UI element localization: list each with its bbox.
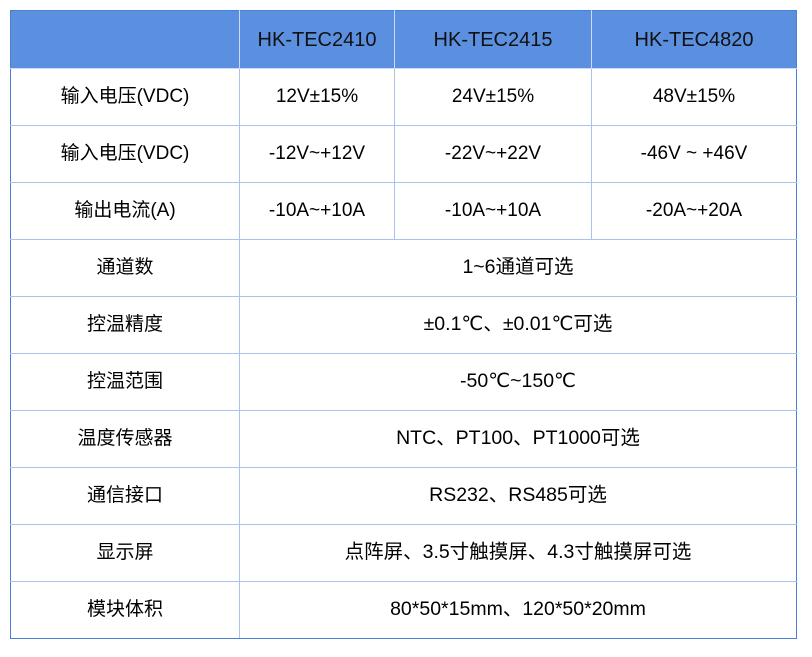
cell-value: 24V±15% (395, 69, 592, 126)
table-row: 通信接口 RS232、RS485可选 (11, 468, 797, 525)
specification-table-container: HK-TEC2410 HK-TEC2415 HK-TEC4820 输入电压(VD… (10, 10, 796, 640)
table-row: 温度传感器 NTC、PT100、PT1000可选 (11, 411, 797, 468)
table-row: 模块体积 80*50*15mm、120*50*20mm (11, 582, 797, 639)
cell-value: -46V ~ +46V (592, 126, 797, 183)
column-header-label (11, 11, 240, 69)
cell-value: -10A~+10A (240, 183, 395, 240)
row-label: 温度传感器 (11, 411, 240, 468)
cell-value: 12V±15% (240, 69, 395, 126)
specification-table: HK-TEC2410 HK-TEC2415 HK-TEC4820 输入电压(VD… (10, 10, 797, 639)
row-label: 输出电流(A) (11, 183, 240, 240)
column-header-model-1: HK-TEC2410 (240, 11, 395, 69)
table-row: 显示屏 点阵屏、3.5寸触摸屏、4.3寸触摸屏可选 (11, 525, 797, 582)
table-row: 输入电压(VDC) 12V±15% 24V±15% 48V±15% (11, 69, 797, 126)
cell-value-merged: NTC、PT100、PT1000可选 (240, 411, 797, 468)
cell-value-merged: 点阵屏、3.5寸触摸屏、4.3寸触摸屏可选 (240, 525, 797, 582)
cell-value-merged: 1~6通道可选 (240, 240, 797, 297)
table-row: 控温范围 -50℃~150℃ (11, 354, 797, 411)
column-header-model-2: HK-TEC2415 (395, 11, 592, 69)
row-label: 控温精度 (11, 297, 240, 354)
row-label: 输入电压(VDC) (11, 69, 240, 126)
column-header-model-3: HK-TEC4820 (592, 11, 797, 69)
row-label: 模块体积 (11, 582, 240, 639)
row-label: 通道数 (11, 240, 240, 297)
table-header-row: HK-TEC2410 HK-TEC2415 HK-TEC4820 (11, 11, 797, 69)
row-label: 通信接口 (11, 468, 240, 525)
cell-value: -20A~+20A (592, 183, 797, 240)
cell-value: -22V~+22V (395, 126, 592, 183)
table-row: 控温精度 ±0.1℃、±0.01℃可选 (11, 297, 797, 354)
table-row: 通道数 1~6通道可选 (11, 240, 797, 297)
row-label: 显示屏 (11, 525, 240, 582)
table-header: HK-TEC2410 HK-TEC2415 HK-TEC4820 (11, 11, 797, 69)
cell-value-merged: ±0.1℃、±0.01℃可选 (240, 297, 797, 354)
table-body: 输入电压(VDC) 12V±15% 24V±15% 48V±15% 输入电压(V… (11, 69, 797, 639)
table-row: 输出电流(A) -10A~+10A -10A~+10A -20A~+20A (11, 183, 797, 240)
cell-value-merged: RS232、RS485可选 (240, 468, 797, 525)
cell-value: -12V~+12V (240, 126, 395, 183)
row-label: 控温范围 (11, 354, 240, 411)
cell-value-merged: -50℃~150℃ (240, 354, 797, 411)
cell-value-merged: 80*50*15mm、120*50*20mm (240, 582, 797, 639)
cell-value: -10A~+10A (395, 183, 592, 240)
table-row: 输入电压(VDC) -12V~+12V -22V~+22V -46V ~ +46… (11, 126, 797, 183)
row-label: 输入电压(VDC) (11, 126, 240, 183)
cell-value: 48V±15% (592, 69, 797, 126)
